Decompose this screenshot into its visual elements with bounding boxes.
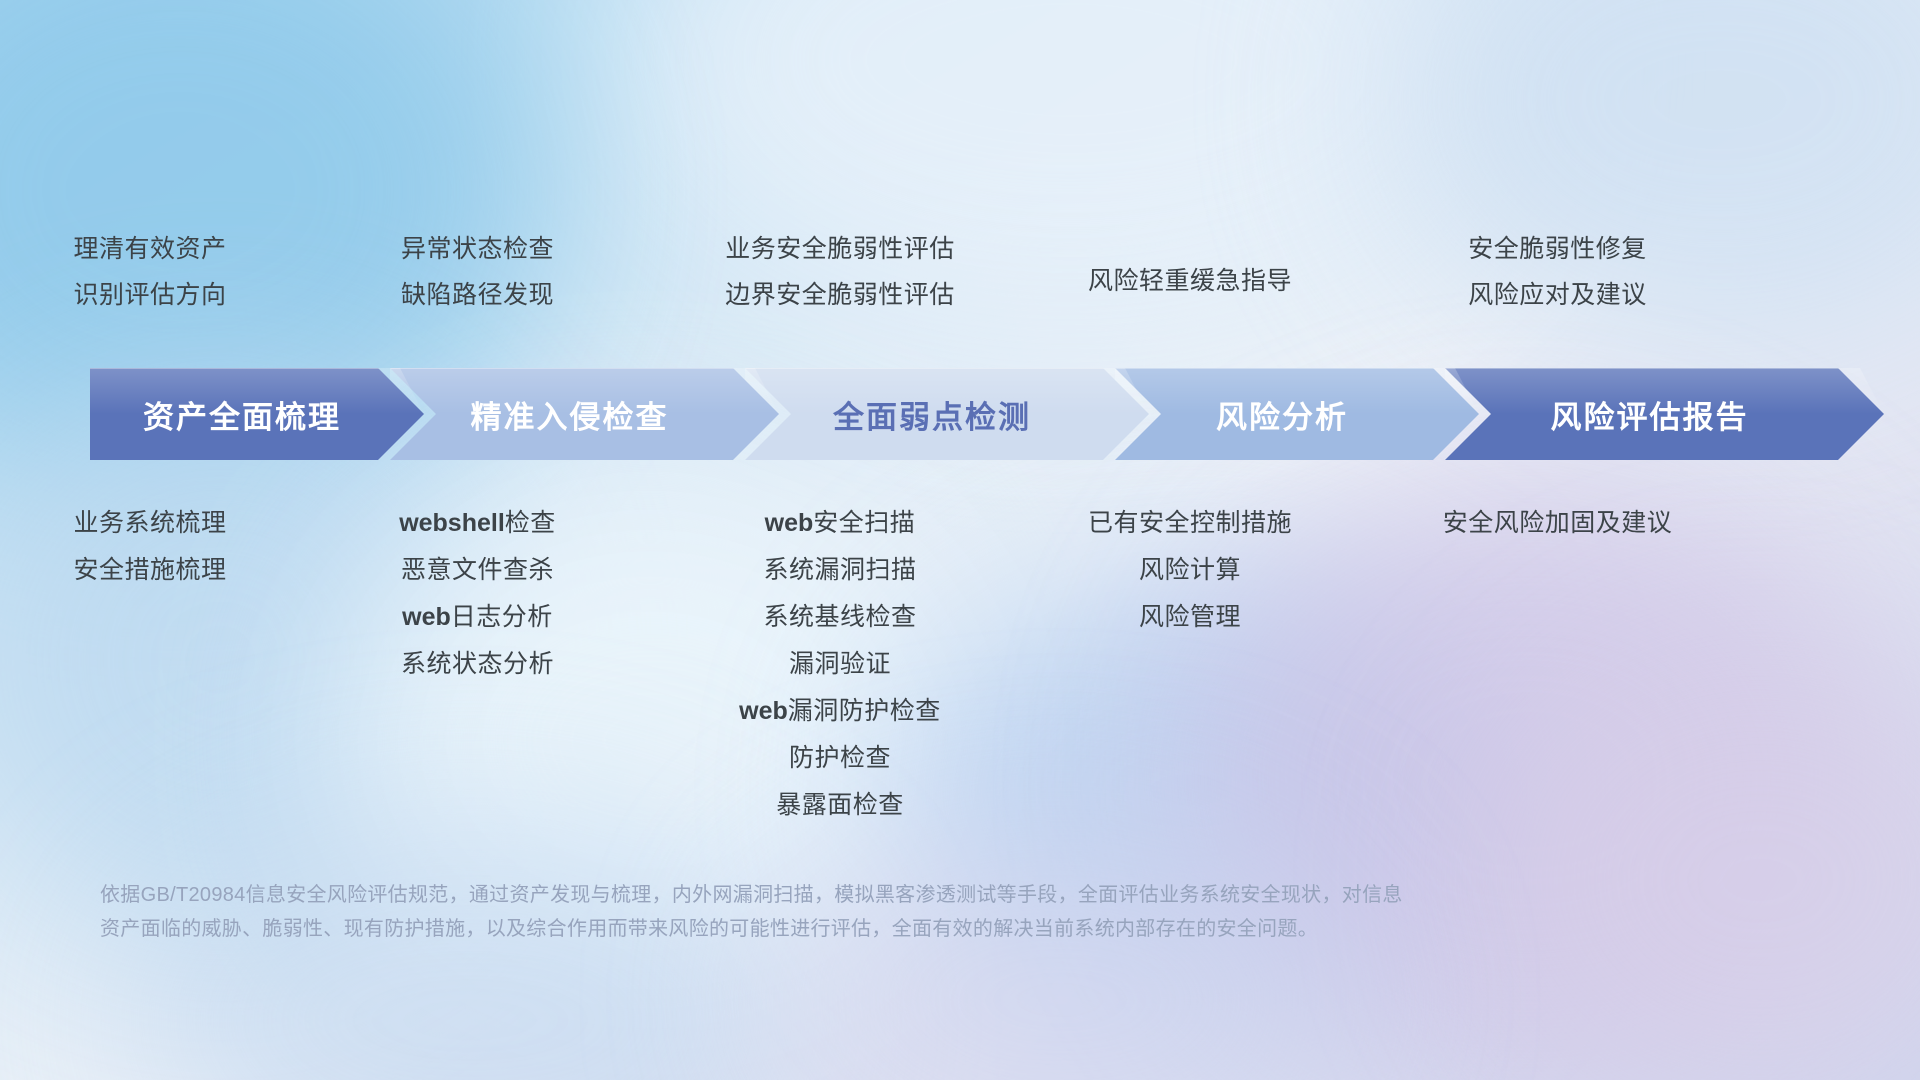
chevron-label: 精准入侵检查	[390, 392, 779, 437]
stage-activities-risk-report: 安全风险加固及建议	[1355, 500, 1760, 829]
stage-activity-item: web安全扫描	[765, 500, 916, 547]
stage-activity-item: 系统基线检查	[763, 594, 916, 641]
chevron-label: 风险评估报告	[1445, 392, 1884, 437]
stage-input-item: 边界安全脆弱性评估	[725, 272, 955, 318]
footer-description: 依据GB/T20984信息安全风险评估规范，通过资产发现与梳理，内外网漏洞扫描，…	[100, 878, 1610, 946]
chevron-stage-intrusion-check[interactable]: 精准入侵检查	[390, 368, 779, 460]
stage-activity-item: 安全措施梳理	[73, 547, 226, 594]
chevron-stage-asset-inventory[interactable]: 资产全面梳理	[90, 368, 424, 460]
stage-activity-item: 暴露面检查	[776, 782, 904, 829]
chevron-band: 资产全面梳理精准入侵检查全面弱点检测风险分析风险评估报告	[90, 368, 1850, 460]
stage-input-item: 业务安全脆弱性评估	[725, 226, 955, 272]
chevron-stage-weakness-detection[interactable]: 全面弱点检测	[745, 368, 1149, 460]
stage-activity-item: 安全风险加固及建议	[1443, 500, 1673, 547]
stage-activity-item: 风险计算	[1139, 547, 1241, 594]
stage-input-item: 理清有效资产	[73, 226, 226, 272]
stage-activity-item: 漏洞验证	[789, 641, 891, 688]
stage-activities-risk-analysis: 已有安全控制措施风险计算风险管理	[1025, 500, 1355, 829]
chevron-stage-risk-analysis[interactable]: 风险分析	[1115, 368, 1479, 460]
stage-inputs-asset-inventory: 理清有效资产识别评估方向	[0, 226, 300, 346]
stage-activity-item: 系统漏洞扫描	[763, 547, 916, 594]
stage-activities-asset-inventory: 业务系统梳理安全措施梳理	[0, 500, 300, 829]
footer-line-1: 依据GB/T20984信息安全风险评估规范，通过资产发现与梳理，内外网漏洞扫描，…	[100, 878, 1610, 912]
stage-input-item: 风险应对及建议	[1468, 272, 1647, 318]
stage-activity-item: 恶意文件查杀	[401, 547, 554, 594]
stage-inputs-risk-report: 安全脆弱性修复风险应对及建议	[1355, 226, 1760, 346]
stage-activity-item: 已有安全控制措施	[1088, 500, 1292, 547]
footer-line-2: 资产面临的威胁、脆弱性、现有防护措施，以及综合作用而带来风险的可能性进行评估，全…	[100, 912, 1610, 946]
stage-input-item: 识别评估方向	[73, 272, 226, 318]
stage-activity-item: web日志分析	[402, 594, 553, 641]
stage-inputs-row: 理清有效资产识别评估方向异常状态检查缺陷路径发现业务安全脆弱性评估边界安全脆弱性…	[0, 226, 1920, 346]
stage-input-item: 安全脆弱性修复	[1468, 226, 1647, 272]
stage-input-item: 异常状态检查	[401, 226, 554, 272]
stage-activity-item: 业务系统梳理	[73, 500, 226, 547]
stage-activities-row: 业务系统梳理安全措施梳理webshell检查恶意文件查杀web日志分析系统状态分…	[0, 500, 1920, 829]
stage-input-item: 风险轻重缓急指导	[1088, 258, 1292, 304]
stage-input-item: 缺陷路径发现	[401, 272, 554, 318]
stage-activities-weakness-detection: web安全扫描系统漏洞扫描系统基线检查漏洞验证web漏洞防护检查防护检查暴露面检…	[655, 500, 1025, 829]
stage-inputs-risk-analysis: 风险轻重缓急指导	[1025, 226, 1355, 336]
chevron-label: 全面弱点检测	[745, 392, 1149, 437]
stage-activity-item: 风险管理	[1139, 594, 1241, 641]
stage-activity-item: web漏洞防护检查	[739, 688, 941, 735]
stage-activity-item: 系统状态分析	[401, 641, 554, 688]
stage-activity-item: 防护检查	[789, 735, 891, 782]
stage-inputs-intrusion-check: 异常状态检查缺陷路径发现	[300, 226, 655, 346]
chevron-label: 资产全面梳理	[90, 392, 424, 437]
stage-inputs-weakness-detection: 业务安全脆弱性评估边界安全脆弱性评估	[655, 226, 1025, 346]
process-diagram: 理清有效资产识别评估方向异常状态检查缺陷路径发现业务安全脆弱性评估边界安全脆弱性…	[0, 0, 1920, 1080]
stage-activity-item: webshell检查	[399, 500, 556, 547]
chevron-label: 风险分析	[1115, 392, 1479, 437]
chevron-stage-risk-report[interactable]: 风险评估报告	[1445, 368, 1884, 460]
stage-activities-intrusion-check: webshell检查恶意文件查杀web日志分析系统状态分析	[300, 500, 655, 829]
